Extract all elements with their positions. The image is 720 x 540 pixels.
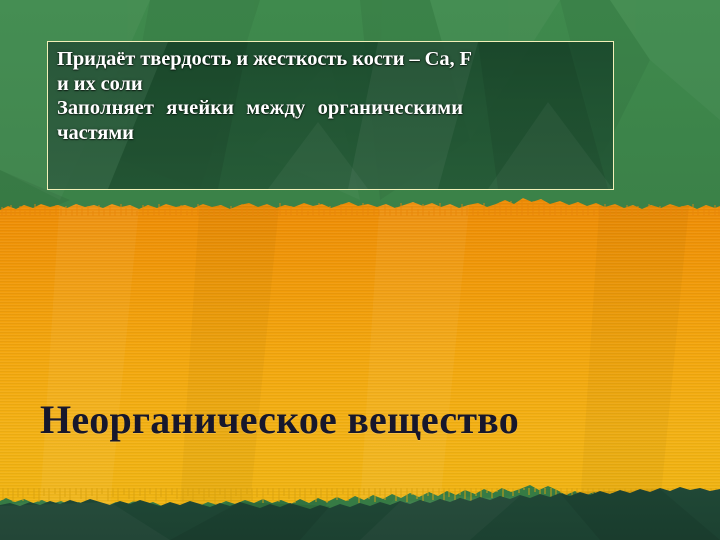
bottom-dark-strip bbox=[0, 486, 720, 540]
orange-band-shape bbox=[0, 196, 720, 506]
content-line-2: и их соли bbox=[57, 72, 605, 97]
content-text-lines: Придаёт твердость и жесткость кости – Ca… bbox=[48, 42, 613, 145]
content-line-3: Заполняет ячейки между органическими bbox=[57, 96, 605, 121]
content-line-4: частями bbox=[57, 121, 605, 146]
slide-title: Неорганическое вещество bbox=[40, 396, 640, 444]
torn-edge-top bbox=[0, 200, 720, 216]
orange-torn-band bbox=[0, 196, 720, 506]
content-text-box: Придаёт твердость и жесткость кости – Ca… bbox=[47, 41, 614, 190]
content-line-1: Придаёт твердость и жесткость кости – Ca… bbox=[57, 47, 605, 72]
presentation-slide: Придаёт твердость и жесткость кости – Ca… bbox=[0, 0, 720, 540]
